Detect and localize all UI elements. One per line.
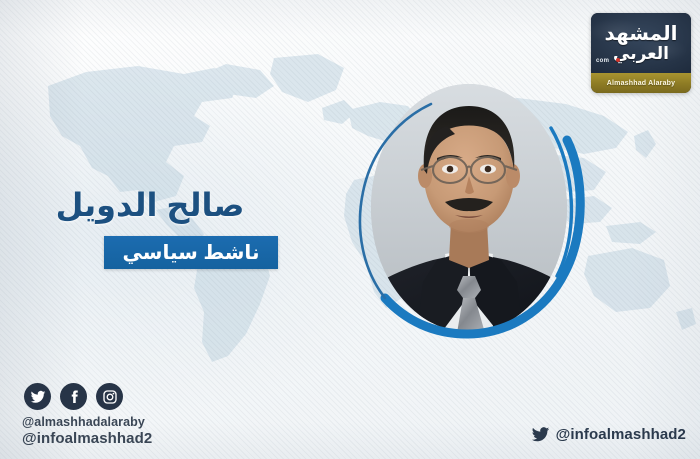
social-handles: @almashhadalaraby @infoalmashhad2: [22, 415, 152, 447]
logo-panel: المشهد العربي com: [591, 13, 691, 73]
handle-primary[interactable]: @almashhadalaraby: [22, 415, 152, 430]
twitter-icon[interactable]: [24, 383, 51, 410]
footer-twitter-handle[interactable]: @infoalmashhad2: [531, 425, 686, 444]
logo-latin-name: Almashhad Alaraby: [607, 80, 676, 87]
logo-arabic-line1: المشهد: [605, 24, 678, 44]
logo-com-label: com: [596, 58, 609, 64]
subject-title-text: ناشط سياسي: [123, 240, 260, 265]
facebook-icon[interactable]: [60, 383, 87, 410]
media-quote-card: المشهد العربي com Almashhad Alaraby: [0, 0, 700, 459]
logo-band: Almashhad Alaraby: [591, 73, 691, 93]
instagram-icon[interactable]: [96, 383, 123, 410]
subject-name: صالح الدويل: [0, 186, 300, 224]
handle-secondary[interactable]: @infoalmashhad2: [22, 430, 152, 448]
portrait-container: [349, 84, 587, 336]
twitter-bird-icon: [531, 425, 550, 444]
portrait-ring-decoration: [349, 84, 587, 336]
logo-arabic-line2: العربي: [613, 45, 669, 62]
footer-handle-text: @infoalmashhad2: [556, 426, 686, 443]
subject-title-badge: ناشط سياسي: [104, 236, 278, 269]
social-icon-row: [24, 383, 123, 410]
logo-dot-icon: [616, 58, 620, 62]
channel-logo[interactable]: المشهد العربي com Almashhad Alaraby: [591, 13, 691, 93]
